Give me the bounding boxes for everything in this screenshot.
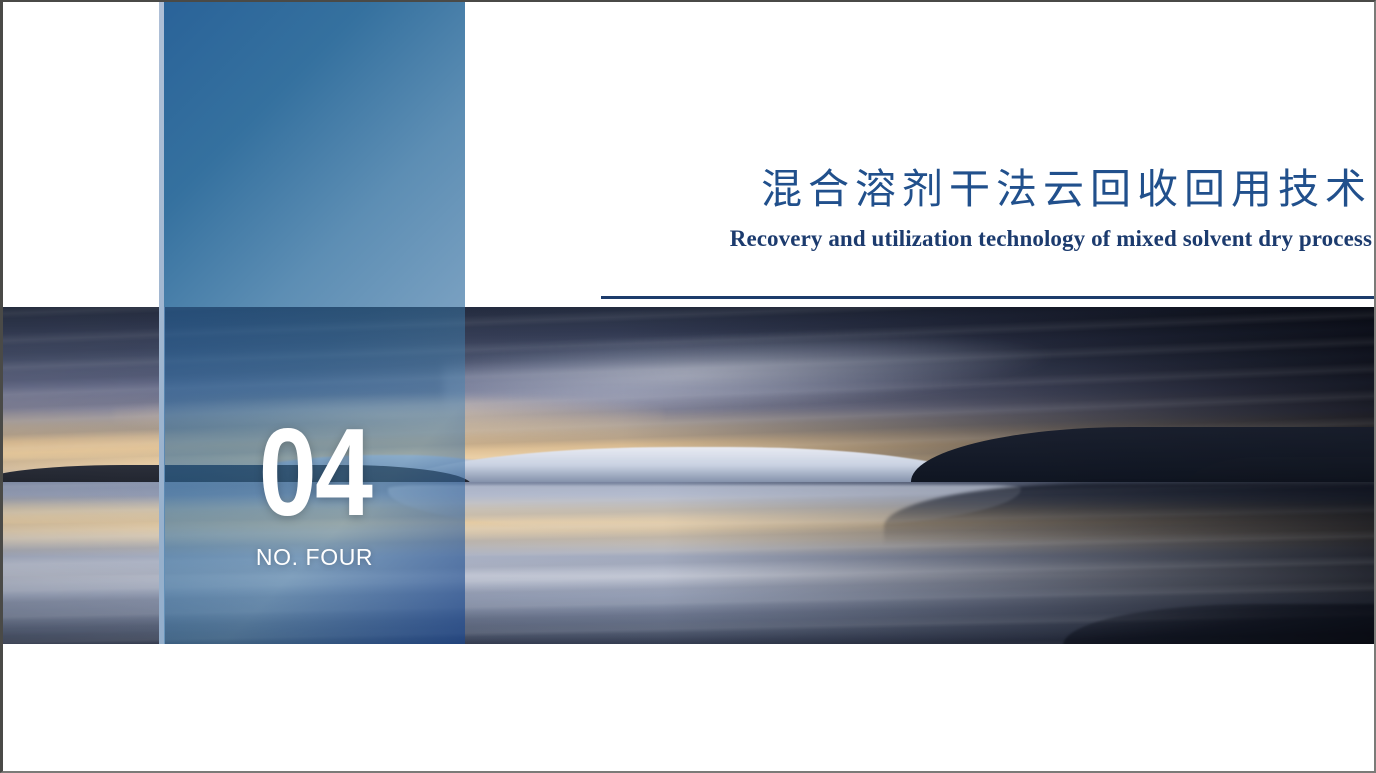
title-divider-rule [601, 296, 1376, 299]
accent-panel-top [164, 2, 465, 307]
page-title: 混合溶剂干法云回收回用技术 [582, 164, 1372, 214]
heading-block: 混合溶剂干法云回收回用技术 Recovery and utilization t… [582, 164, 1372, 252]
presentation-slide: 04 NO. FOUR 混合溶剂干法云回收回用技术 Recovery and u… [0, 0, 1376, 773]
section-number-block: 04 NO. FOUR [164, 307, 465, 644]
section-number-label: NO. FOUR [256, 544, 373, 571]
page-subtitle: Recovery and utilization technology of m… [582, 226, 1372, 252]
section-number: 04 [258, 420, 371, 527]
